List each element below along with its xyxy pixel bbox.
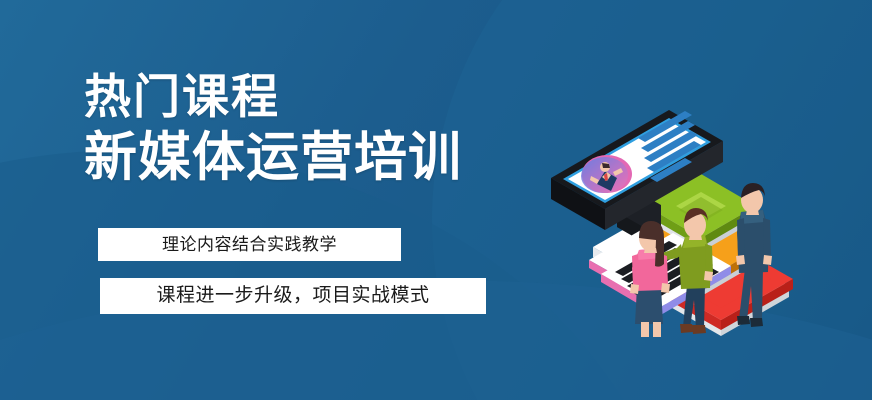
subtitle-box-one: 理论内容结合实践教学	[98, 228, 401, 261]
illustration-online-course	[545, 72, 805, 337]
text-column: 热门课程 新媒体运营培训 理论内容结合实践教学 课程进一步升级，项目实战模式	[84, 72, 514, 187]
page-title-secondary: 新媒体运营培训	[84, 128, 514, 187]
subtitle-box-two: 课程进一步升级，项目实战模式	[100, 278, 486, 314]
course-promo-banner: 热门课程 新媒体运营培训 理论内容结合实践教学 课程进一步升级，项目实战模式	[0, 0, 872, 400]
page-title-primary: 热门课程	[84, 72, 514, 122]
